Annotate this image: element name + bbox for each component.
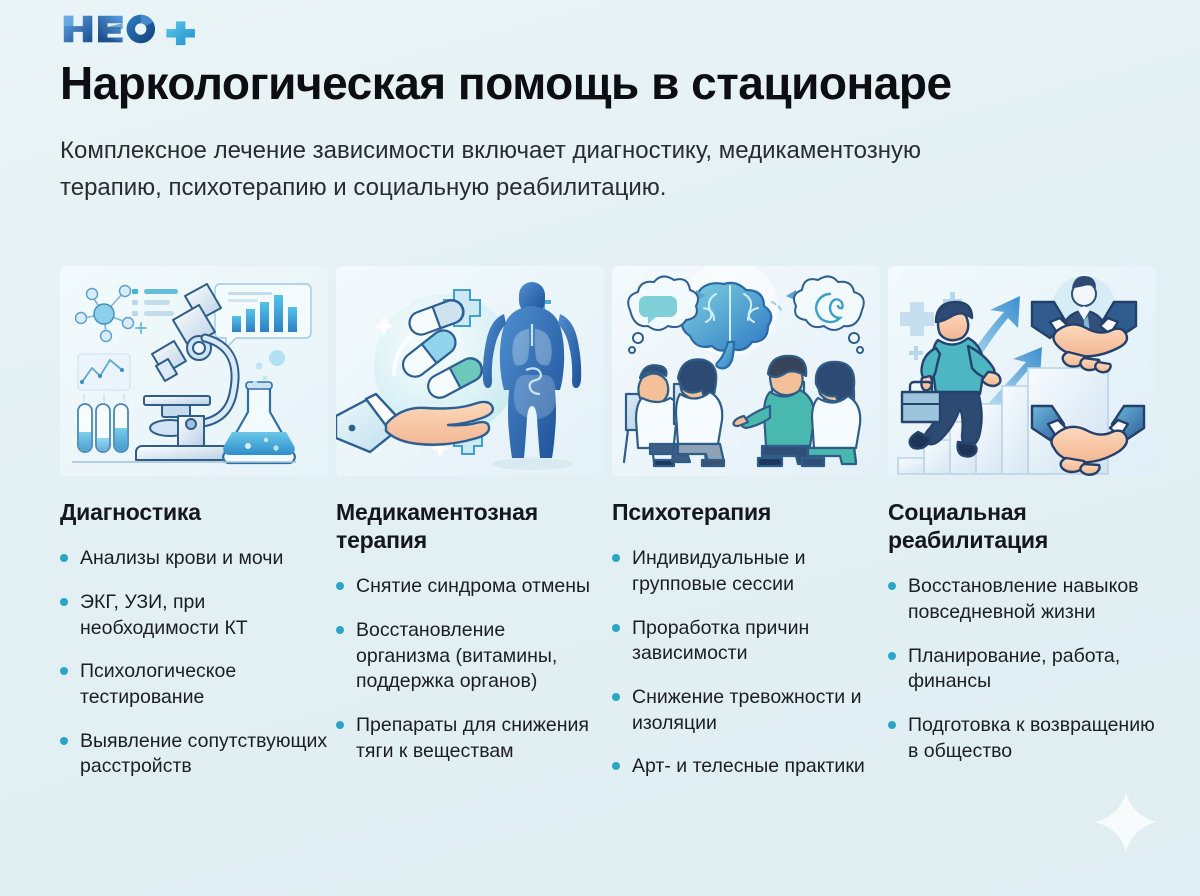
sparkle-star-icon <box>1094 790 1158 854</box>
illustration-medication <box>336 266 604 476</box>
column-bullet-list: Восстановление навыков повседневной жизн… <box>888 574 1156 764</box>
column-diagnostics: Диагностика Анализы крови и мочи ЭКГ, УЗ… <box>60 266 328 798</box>
illustration-psychotherapy <box>612 266 880 476</box>
infographic-page: Наркологическая помощь в стационаре Комп… <box>0 0 1200 896</box>
page-header: Наркологическая помощь в стационаре Комп… <box>60 58 1150 206</box>
brand-logo <box>60 10 203 48</box>
list-item: Индивидуальные и групповые сессии <box>612 546 880 597</box>
list-item: Снятие синдрома отмены <box>336 574 604 600</box>
column-social-rehab: Социальная реабилитация Восстановление н… <box>888 266 1156 783</box>
list-item: Восстановление организма (витамины, подд… <box>336 618 604 695</box>
hand-with-pills-body-icon <box>336 266 604 476</box>
list-item: Препараты для снижения тяги к веществам <box>336 713 604 764</box>
column-psychotherapy: Психотерапия Индивидуальные и групповые … <box>612 266 880 798</box>
neo-plus-logo-icon <box>60 10 203 48</box>
list-item: Проработка причин зависимости <box>612 616 880 667</box>
list-item: Планирование, работа, финансы <box>888 644 1156 695</box>
list-item: Психологическое тестирование <box>60 659 328 710</box>
list-item: Подготовка к возвращению в общество <box>888 713 1156 764</box>
list-item: ЭКГ, УЗИ, при необходимости КТ <box>60 590 328 641</box>
group-therapy-brain-icon <box>612 266 880 476</box>
column-medication: Медикаментозная терапия Снятие синдрома … <box>336 266 604 783</box>
illustration-social-rehab <box>888 266 1156 476</box>
microscope-lab-icon <box>60 266 328 476</box>
service-columns: Диагностика Анализы крови и мочи ЭКГ, УЗ… <box>60 266 1145 798</box>
illustration-diagnostics <box>60 266 328 476</box>
column-bullet-list: Анализы крови и мочи ЭКГ, УЗИ, при необх… <box>60 546 328 780</box>
column-bullet-list: Снятие синдрома отмены Восстановление ор… <box>336 574 604 764</box>
page-subtitle: Комплексное лечение зависимости включает… <box>60 132 960 206</box>
column-heading: Медикаментозная терапия <box>336 498 604 554</box>
stairs-handshake-icon <box>888 266 1156 476</box>
page-title: Наркологическая помощь в стационаре <box>60 58 1150 110</box>
column-heading: Психотерапия <box>612 498 880 526</box>
list-item: Восстановление навыков повседневной жизн… <box>888 574 1156 625</box>
list-item: Анализы крови и мочи <box>60 546 328 572</box>
column-bullet-list: Индивидуальные и групповые сессии Прораб… <box>612 546 880 780</box>
list-item: Арт- и телесные практики <box>612 754 880 780</box>
column-heading: Социальная реабилитация <box>888 498 1156 554</box>
list-item: Снижение тревожности и изоляции <box>612 685 880 736</box>
list-item: Выявление сопутствующих расстройств <box>60 729 328 780</box>
column-heading: Диагностика <box>60 498 328 526</box>
